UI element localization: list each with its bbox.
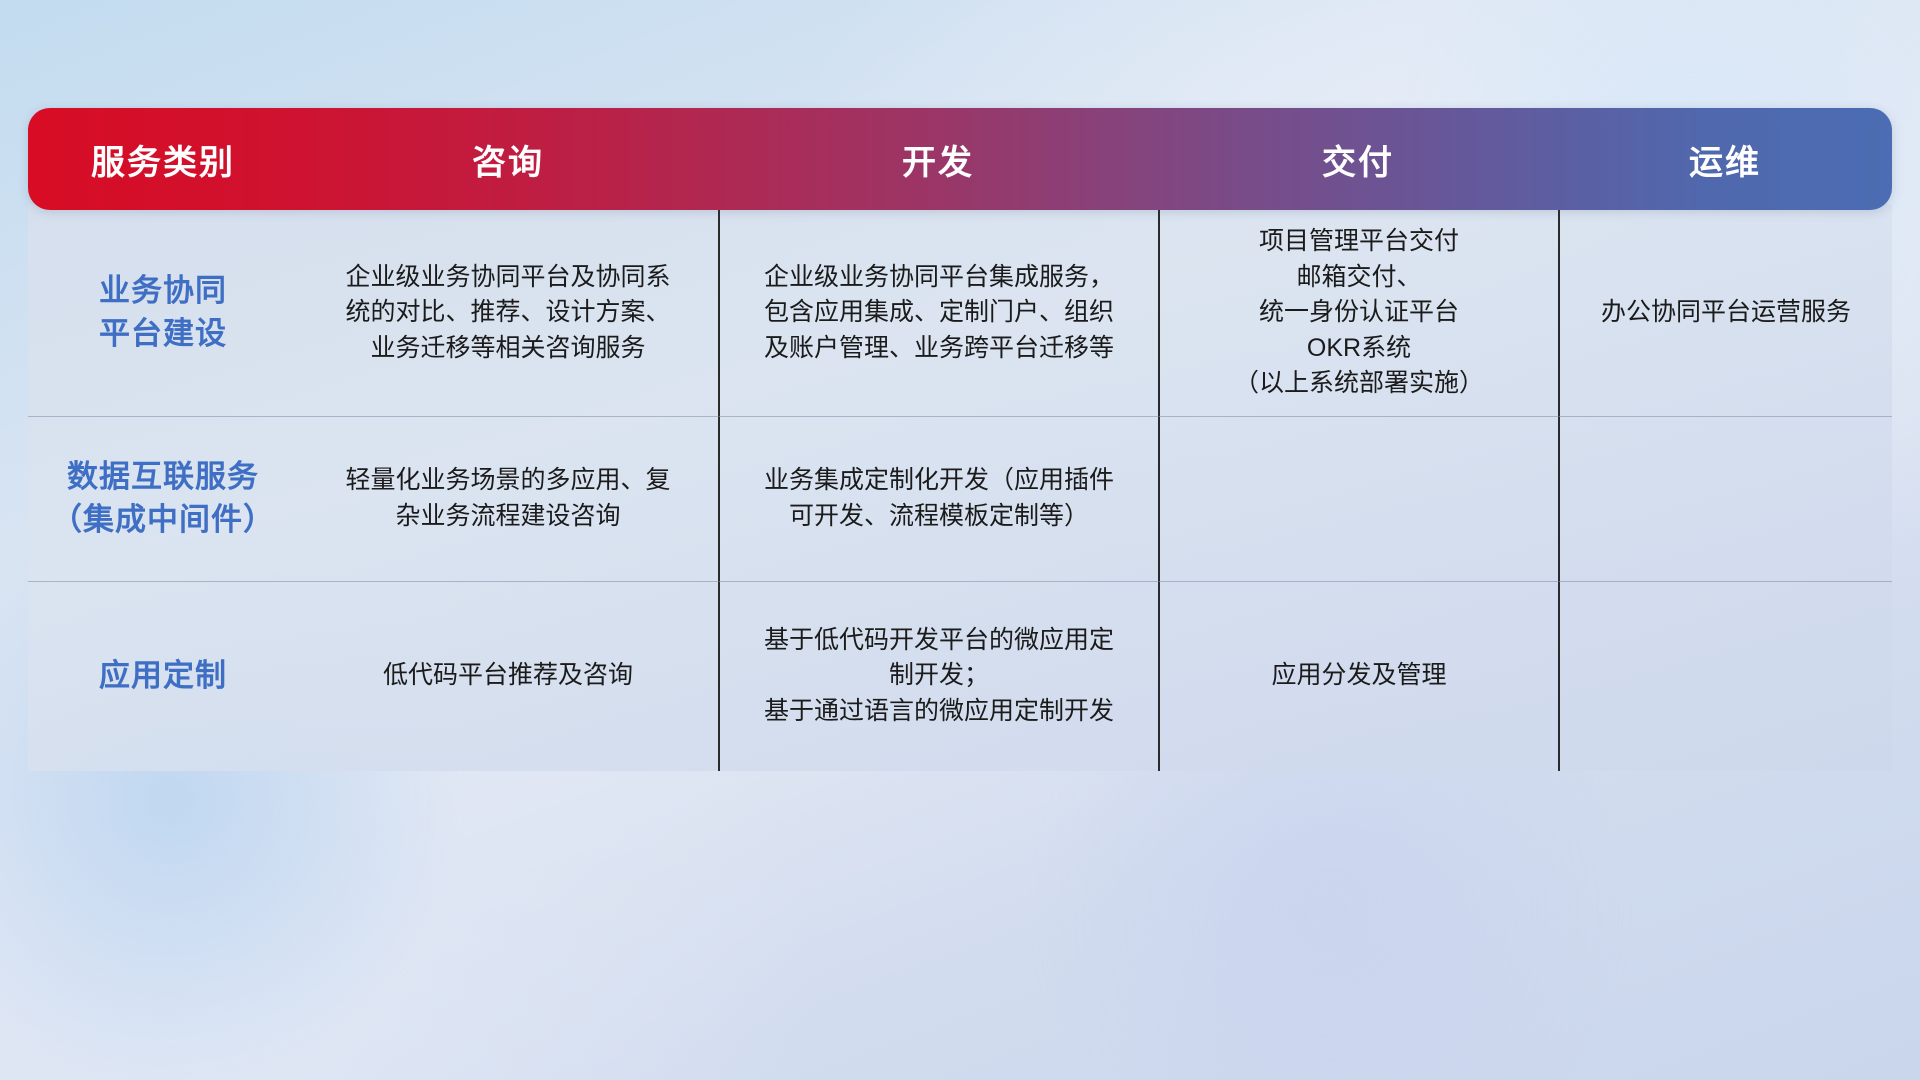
cell-operations: [1558, 581, 1892, 771]
table-row: 应用定制 低代码平台推荐及咨询 基于低代码开发平台的微应用定 制开发； 基于通过…: [28, 581, 1892, 771]
cell-operations: [1558, 416, 1892, 581]
column-header-operations: 运维: [1558, 135, 1892, 184]
column-header-delivery: 交付: [1158, 135, 1558, 184]
row-label-data-integration: 数据互联服务 （集成中间件）: [28, 416, 298, 581]
cell-delivery: [1158, 416, 1558, 581]
cell-delivery: 项目管理平台交付 邮箱交付、 统一身份认证平台 OKR系统 （以上系统部署实施）: [1158, 210, 1558, 416]
row-label-business-collaboration: 业务协同 平台建设: [28, 210, 298, 416]
cell-development: 基于低代码开发平台的微应用定 制开发； 基于通过语言的微应用定制开发: [718, 581, 1158, 771]
row-label-app-customization: 应用定制: [28, 581, 298, 771]
column-header-consulting: 咨询: [298, 135, 718, 184]
cell-development: 企业级业务协同平台集成服务， 包含应用集成、定制门户、组织 及账户管理、业务跨平…: [718, 210, 1158, 416]
cell-delivery: 应用分发及管理: [1158, 581, 1558, 771]
column-header-development: 开发: [718, 135, 1158, 184]
table-row: 数据互联服务 （集成中间件） 轻量化业务场景的多应用、复 杂业务流程建设咨询 业…: [28, 416, 1892, 581]
cell-development: 业务集成定制化开发（应用插件 可开发、流程模板定制等）: [718, 416, 1158, 581]
service-matrix-table: 服务类别 咨询 开发 交付 运维 业务协同 平台建设 企业级业务协同平台及协同系…: [28, 108, 1892, 771]
cell-consulting: 轻量化业务场景的多应用、复 杂业务流程建设咨询: [298, 416, 718, 581]
column-header-category: 服务类别: [28, 135, 298, 184]
table-body: 业务协同 平台建设 企业级业务协同平台及协同系 统的对比、推荐、设计方案、 业务…: [28, 204, 1892, 771]
cell-operations: 办公协同平台运营服务: [1558, 210, 1892, 416]
cell-consulting: 企业级业务协同平台及协同系 统的对比、推荐、设计方案、 业务迁移等相关咨询服务: [298, 210, 718, 416]
table-header-row: 服务类别 咨询 开发 交付 运维: [28, 108, 1892, 210]
table-row: 业务协同 平台建设 企业级业务协同平台及协同系 统的对比、推荐、设计方案、 业务…: [28, 210, 1892, 416]
cell-consulting: 低代码平台推荐及咨询: [298, 581, 718, 771]
